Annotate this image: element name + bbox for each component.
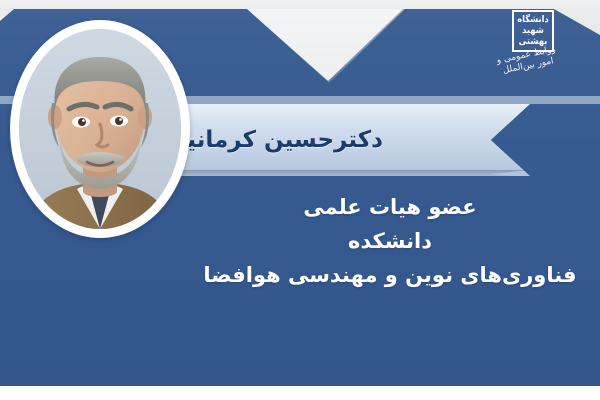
portrait [10, 20, 190, 238]
description-line-3: فناوری‌های نوین و مهندسی هوافضا [190, 258, 590, 292]
description-line-2: دانشکده [190, 224, 590, 258]
portrait-image [19, 29, 181, 229]
faculty-profile-poster: دکترحسین کرمانیان [0, 0, 600, 400]
university-logo: دانشگاه شهید بهشتی روابط عمومی و امور بی… [502, 8, 556, 90]
description-line-1: عضو هیات علمی [190, 190, 590, 224]
description-block: عضو هیات علمی دانشکده فناوری‌های نوین و … [190, 190, 590, 292]
public-relations-calligraphy: روابط عمومی و امور بین‌الملل [493, 44, 565, 96]
university-logo-text: دانشگاه شهید بهشتی [516, 15, 551, 48]
